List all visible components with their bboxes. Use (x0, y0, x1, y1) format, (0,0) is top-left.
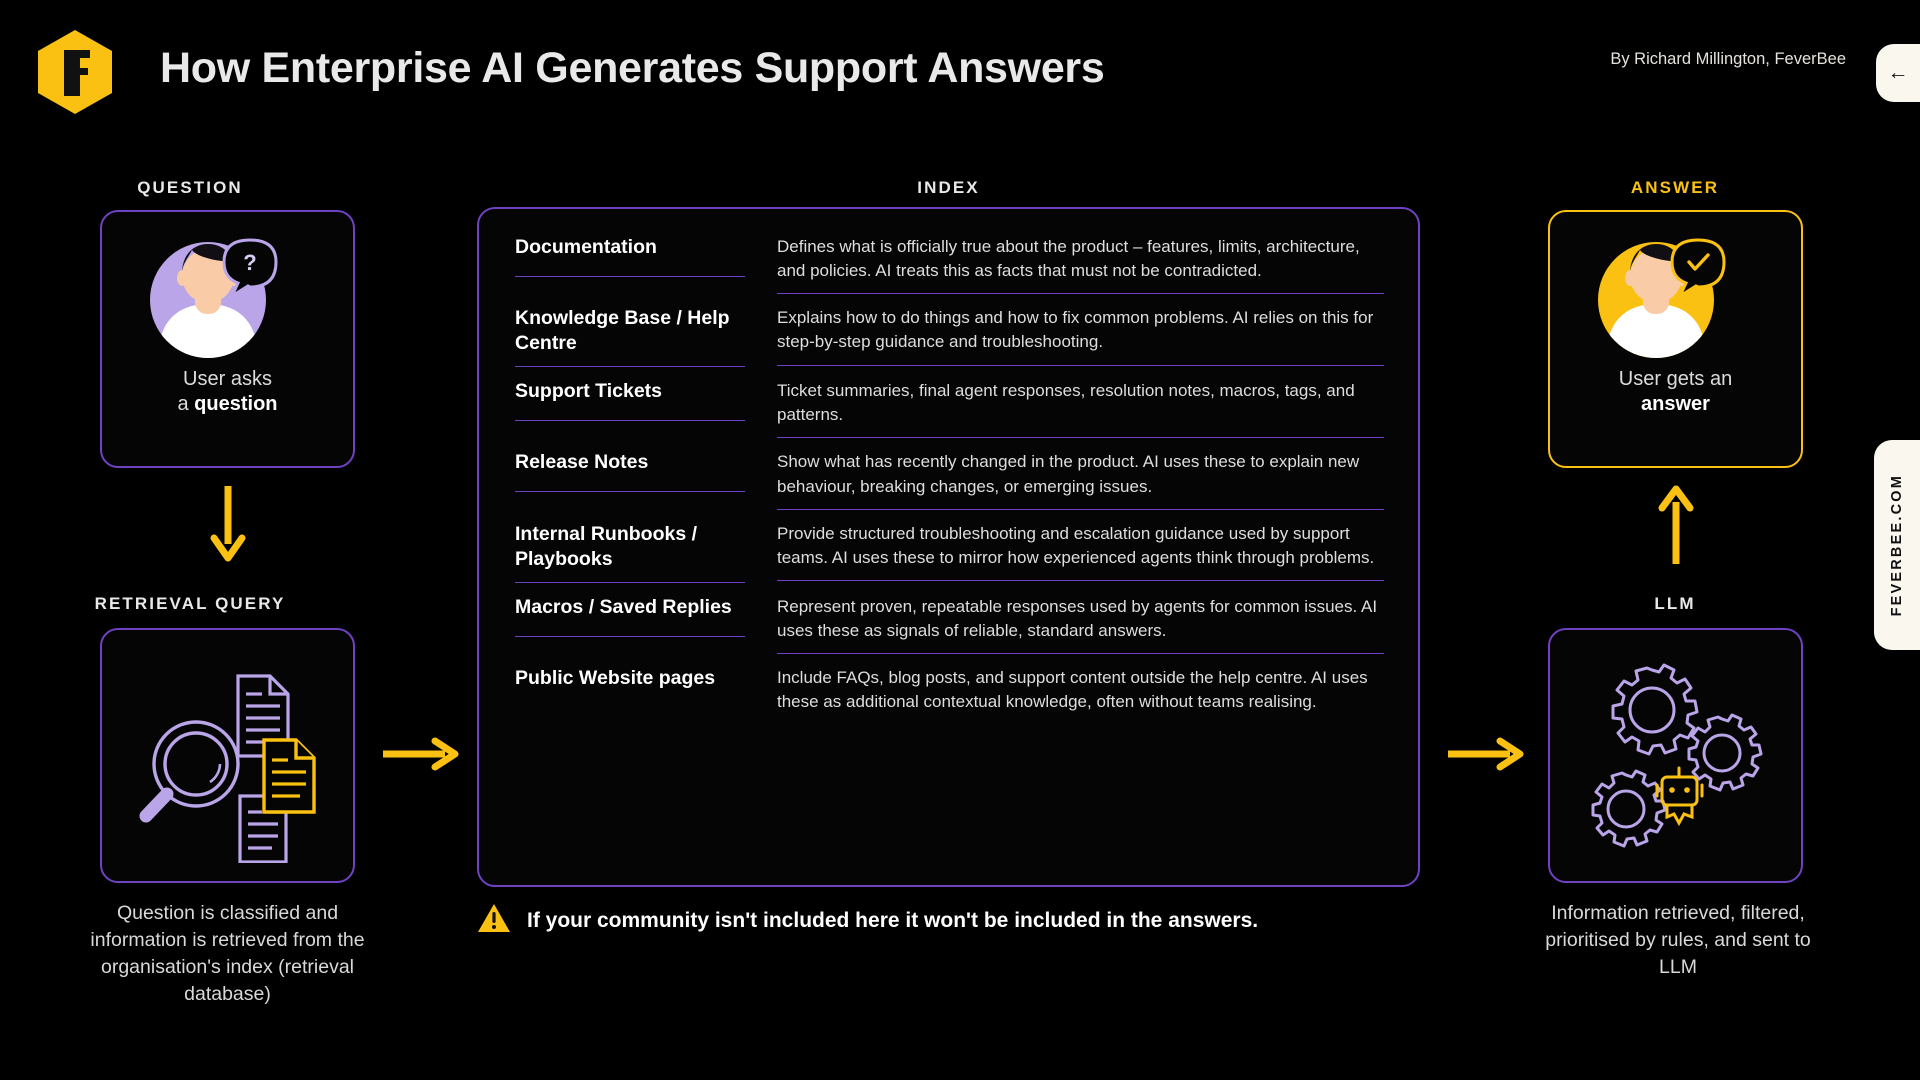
index-row: DocumentationDefines what is officially … (515, 223, 1384, 294)
back-arrow-icon: ← (1888, 61, 1909, 85)
index-column-label: INDEX (477, 178, 1420, 198)
index-row-description: Provide structured troubleshooting and e… (777, 510, 1384, 581)
index-row-term: Documentation (515, 223, 745, 277)
byline: By Richard Millington, FeverBee (1586, 48, 1846, 70)
svg-text:?: ? (243, 250, 256, 275)
index-row-description: Show what has recently changed in the pr… (777, 438, 1384, 509)
side-tab-label: FEVERBEE.COM (1889, 474, 1905, 616)
answer-card-caption: User gets an answer (1550, 367, 1801, 417)
index-row-description: Explains how to do things and how to fix… (777, 294, 1384, 365)
index-row: Public Website pagesInclude FAQs, blog p… (515, 654, 1384, 724)
index-row-term: Knowledge Base / Help Centre (515, 294, 745, 367)
question-caption-prefix: a (177, 393, 194, 415)
llm-card (1548, 628, 1803, 883)
answer-caption-bold: answer (1641, 393, 1710, 415)
answer-caption-line1: User gets an (1550, 367, 1801, 392)
index-row-term: Support Tickets (515, 367, 745, 421)
index-warning: If your community isn't included here it… (477, 903, 1258, 938)
question-caption-line1: User asks (102, 367, 353, 392)
answer-column-label: ANSWER (1545, 178, 1805, 198)
user-avatar-question-icon: ? (150, 232, 310, 367)
retrieval-column-label: RETRIEVAL QUERY (60, 594, 320, 614)
index-row: Knowledge Base / Help CentreExplains how… (515, 294, 1384, 367)
retrieval-description: Question is classified and information i… (70, 900, 385, 1008)
feverbee-hexagon-logo (38, 30, 112, 114)
question-caption-bold: question (194, 393, 277, 415)
llm-column-label: LLM (1545, 594, 1805, 614)
warning-text: If your community isn't included here it… (527, 909, 1258, 933)
feverbee-side-tab[interactable]: FEVERBEE.COM (1874, 440, 1920, 650)
index-row: Release NotesShow what has recently chan… (515, 438, 1384, 509)
infographic-canvas: How Enterprise AI Generates Support Answ… (0, 0, 1920, 1080)
index-row-term: Internal Runbooks / Playbooks (515, 510, 745, 583)
index-row-term: Public Website pages (515, 654, 745, 708)
index-row: Macros / Saved RepliesRepresent proven, … (515, 583, 1384, 654)
index-row-term: Release Notes (515, 438, 745, 492)
answer-card: User gets an answer (1548, 210, 1803, 468)
arrow-right-retrieval-to-index (383, 736, 463, 777)
index-row-term: Macros / Saved Replies (515, 583, 745, 637)
index-row: Support TicketsTicket summaries, final a… (515, 367, 1384, 438)
gears-robot-icon (1564, 644, 1790, 875)
magnifier-documents-icon (122, 648, 337, 868)
warning-triangle-icon (477, 903, 511, 938)
retrieval-card (100, 628, 355, 883)
arrow-down-question-to-retrieval (210, 484, 246, 571)
index-row-description: Include FAQs, blog posts, and support co… (777, 654, 1384, 724)
back-arrow-tab[interactable]: ← (1876, 44, 1920, 102)
page-title: How Enterprise AI Generates Support Answ… (160, 44, 1104, 93)
header: How Enterprise AI Generates Support Answ… (0, 0, 1920, 148)
index-rows-container: DocumentationDefines what is officially … (515, 223, 1384, 724)
question-card-caption: User asks a question (102, 367, 353, 417)
question-card: ? User asks a question (100, 210, 355, 468)
index-row-description: Ticket summaries, final agent responses,… (777, 367, 1384, 438)
user-avatar-answer-icon (1598, 232, 1758, 367)
index-panel: DocumentationDefines what is officially … (477, 207, 1420, 887)
index-row-description: Defines what is officially true about th… (777, 223, 1384, 294)
index-row: Internal Runbooks / PlaybooksProvide str… (515, 510, 1384, 583)
llm-description: Information retrieved, filtered, priorit… (1528, 900, 1828, 981)
question-caption-line2: a question (102, 392, 353, 417)
question-column-label: QUESTION (60, 178, 320, 198)
arrow-up-llm-to-answer (1658, 484, 1694, 571)
index-row-description: Represent proven, repeatable responses u… (777, 583, 1384, 654)
arrow-right-index-to-llm (1448, 736, 1528, 777)
answer-caption-line2: answer (1550, 392, 1801, 417)
